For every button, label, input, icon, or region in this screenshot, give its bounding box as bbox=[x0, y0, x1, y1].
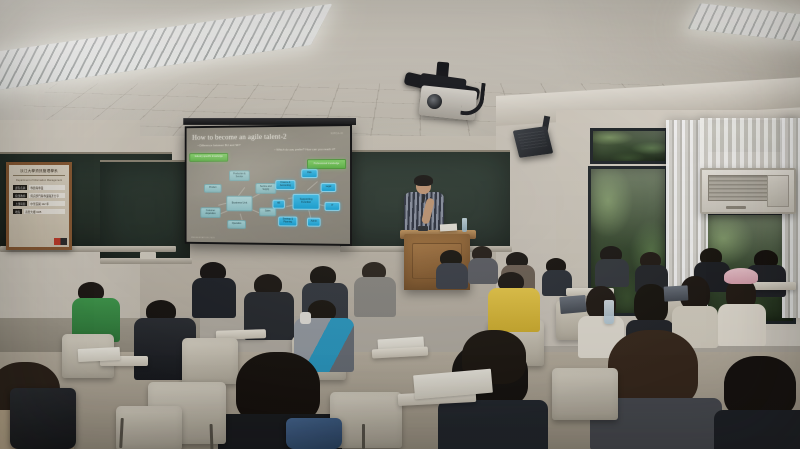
laptop bbox=[559, 295, 586, 314]
chair-leg bbox=[362, 424, 365, 449]
diagram-node: Risk bbox=[301, 169, 317, 178]
poster-row-value: 商管大樓 I405 bbox=[24, 209, 65, 214]
diagram-hub-supporting-function: Supporting Function bbox=[293, 194, 320, 210]
poster-row-tag: 授課教師 bbox=[13, 193, 27, 198]
window-air-conditioner[interactable] bbox=[700, 168, 796, 214]
slide-bullet-list: Difference between BU and SF? Which do y… bbox=[192, 142, 344, 154]
poster-row: 授課教師 資訊部門與專業職涯分享 bbox=[13, 193, 65, 198]
chair-back bbox=[116, 406, 182, 449]
poster-subtitle: Department of Information Management bbox=[13, 179, 65, 182]
poster-row-tag: 地點 bbox=[13, 209, 22, 214]
diagram-node: Product bbox=[204, 184, 222, 193]
face-mask bbox=[300, 312, 311, 324]
backpack bbox=[10, 388, 76, 449]
backpack bbox=[286, 418, 342, 449]
slide-title: How to become an agile talent-2 bbox=[192, 131, 344, 142]
diagram-node: Production & Service bbox=[229, 170, 250, 181]
ac-grille-icon bbox=[708, 175, 770, 201]
diagram-connector bbox=[307, 181, 318, 190]
slide-tag-professional-knowledge: Professional knowledge bbox=[307, 159, 346, 169]
chair-back bbox=[552, 368, 618, 420]
wall-speaker bbox=[513, 126, 554, 158]
poster-row-value: 中華民國 112 年 bbox=[29, 201, 65, 206]
presenter-hair bbox=[414, 175, 433, 186]
chalkboard bbox=[100, 160, 190, 260]
diagram-node: Finance & Accounting bbox=[275, 180, 295, 190]
poster-title: 淡江大學資訊管理學系 bbox=[13, 169, 65, 176]
ac-brand-label bbox=[726, 206, 746, 209]
slide-footer: PRESENTATION 2023 bbox=[191, 237, 215, 239]
diagram-node: Service and Supply bbox=[255, 183, 276, 194]
diagram-hub-business-unit: Business Unit bbox=[226, 196, 252, 212]
slide-tag-industry-knowledge: Industry specific knowledge bbox=[189, 153, 228, 162]
podium-clicker bbox=[418, 226, 428, 231]
poster-row-value: 資訊部門與專業職涯分享 bbox=[29, 193, 65, 198]
wall-poster: 淡江大學資訊管理學系 Department of Information Man… bbox=[6, 162, 72, 250]
presentation-slide: How to become an agile talent-2 NIPCA-II… bbox=[187, 126, 350, 244]
diagram-node: Operation bbox=[227, 220, 246, 229]
slide-bullet: Difference between BU and SF? bbox=[198, 143, 241, 147]
podium-papers bbox=[440, 224, 457, 232]
diagram-node: IT bbox=[325, 202, 341, 211]
poster-row-tag: 上課時間 bbox=[13, 201, 27, 206]
pink-cap bbox=[724, 268, 758, 284]
poster-row: 地點 商管大樓 I405 bbox=[13, 209, 65, 214]
slide-bullet: Which do you prefer? How can you reach i… bbox=[274, 147, 335, 151]
diagram-node: Admin bbox=[307, 218, 321, 227]
podium-water-bottle bbox=[462, 218, 467, 232]
water-bottle bbox=[604, 300, 614, 324]
diagram-node: HR bbox=[272, 200, 284, 209]
poster-logo-icon bbox=[54, 238, 67, 245]
window bbox=[590, 128, 668, 164]
poster-row: 課程名稱 專題與專業 bbox=[13, 185, 65, 190]
diagram-node: Sales bbox=[259, 208, 276, 217]
ac-control-panel[interactable] bbox=[767, 175, 789, 207]
diagram-node: Strategy & Planning bbox=[278, 216, 297, 226]
poster-row-tag: 課程名稱 bbox=[13, 185, 27, 190]
poster-row-value: 專題與專業 bbox=[29, 185, 65, 190]
diagram-node: Legal bbox=[321, 183, 337, 192]
chair-back bbox=[182, 338, 238, 384]
slide-corner-note: NIPCA-III bbox=[331, 132, 344, 135]
diagram-node: Customer Acquisition bbox=[200, 207, 220, 218]
projection-screen: How to become an agile talent-2 NIPCA-II… bbox=[185, 124, 352, 246]
laptop bbox=[664, 285, 689, 301]
chalkboard-eraser bbox=[140, 252, 156, 259]
lecture-hall-photo: 淡江大學資訊管理學系 Department of Information Man… bbox=[0, 0, 800, 449]
poster-row: 上課時間 中華民國 112 年 bbox=[13, 201, 65, 206]
notebook bbox=[78, 347, 121, 362]
